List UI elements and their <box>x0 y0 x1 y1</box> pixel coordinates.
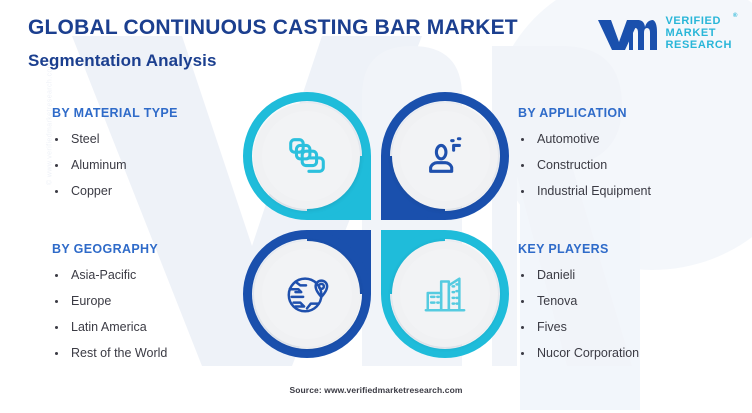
segment-block-application: BY APPLICATION Automotive Construction I… <box>518 106 746 210</box>
list-item: Nucor Corporation <box>518 346 746 360</box>
logo-line-3: RESEARCH <box>665 40 732 52</box>
vmr-monogram-icon <box>596 16 658 52</box>
quadrant-geography <box>243 230 371 358</box>
segment-title: BY APPLICATION <box>518 106 746 120</box>
segment-list: Steel Aluminum Copper <box>52 132 252 198</box>
list-item: Automotive <box>518 132 746 146</box>
list-item: Steel <box>52 132 252 146</box>
segment-list: Danieli Tenova Fives Nucor Corporation <box>518 268 746 360</box>
list-item: Fives <box>518 320 746 334</box>
segment-title: BY MATERIAL TYPE <box>52 106 252 120</box>
segment-list: Asia-Pacific Europe Latin America Rest o… <box>52 268 252 360</box>
icon-disc-inner <box>400 249 490 339</box>
icon-disc-inner <box>262 111 352 201</box>
city-buildings-icon <box>422 271 468 317</box>
segment-title: KEY PLAYERS <box>518 242 746 256</box>
icon-disc-inner <box>400 111 490 201</box>
list-item: Asia-Pacific <box>52 268 252 282</box>
list-item: Copper <box>52 184 252 198</box>
list-item: Industrial Equipment <box>518 184 746 198</box>
icon-disc <box>392 241 498 347</box>
list-item: Europe <box>52 294 252 308</box>
source-note: Source: www.verifiedmarketresearch.com <box>0 385 752 395</box>
header: GLOBAL CONTINUOUS CASTING BAR MARKET Seg… <box>28 10 732 80</box>
icon-disc <box>254 241 360 347</box>
infographic-page: © www.verifiedmarketresearch.com GLOBAL … <box>0 0 752 413</box>
brand-logo: VERIFIED® MARKET RESEARCH <box>596 16 732 52</box>
list-item: Tenova <box>518 294 746 308</box>
logo-wordmark: VERIFIED® MARKET RESEARCH <box>665 16 732 52</box>
list-item: Construction <box>518 158 746 172</box>
segment-block-material-type: BY MATERIAL TYPE Steel Aluminum Copper <box>52 106 252 210</box>
user-worker-icon <box>422 133 468 179</box>
segment-title: BY GEOGRAPHY <box>52 242 252 256</box>
segment-block-geography: BY GEOGRAPHY Asia-Pacific Europe Latin A… <box>52 242 252 372</box>
icon-disc-inner <box>262 249 352 339</box>
segment-list: Automotive Construction Industrial Equip… <box>518 132 746 198</box>
list-item: Aluminum <box>52 158 252 172</box>
segment-block-key-players: KEY PLAYERS Danieli Tenova Fives Nucor C… <box>518 242 746 372</box>
list-item: Rest of the World <box>52 346 252 360</box>
list-item: Latin America <box>52 320 252 334</box>
list-item: Danieli <box>518 268 746 282</box>
page-title: GLOBAL CONTINUOUS CASTING BAR MARKET <box>28 16 518 40</box>
quadrant-key-players <box>381 230 509 358</box>
icon-disc <box>254 103 360 209</box>
quadrant-application <box>381 92 509 220</box>
layers-stack-icon <box>284 133 330 179</box>
quadrant-graphic <box>243 92 509 358</box>
registered-mark: ® <box>733 13 738 19</box>
globe-location-pin-icon <box>284 271 330 317</box>
icon-disc <box>392 103 498 209</box>
page-subtitle: Segmentation Analysis <box>28 51 217 71</box>
quadrant-material-type <box>243 92 371 220</box>
